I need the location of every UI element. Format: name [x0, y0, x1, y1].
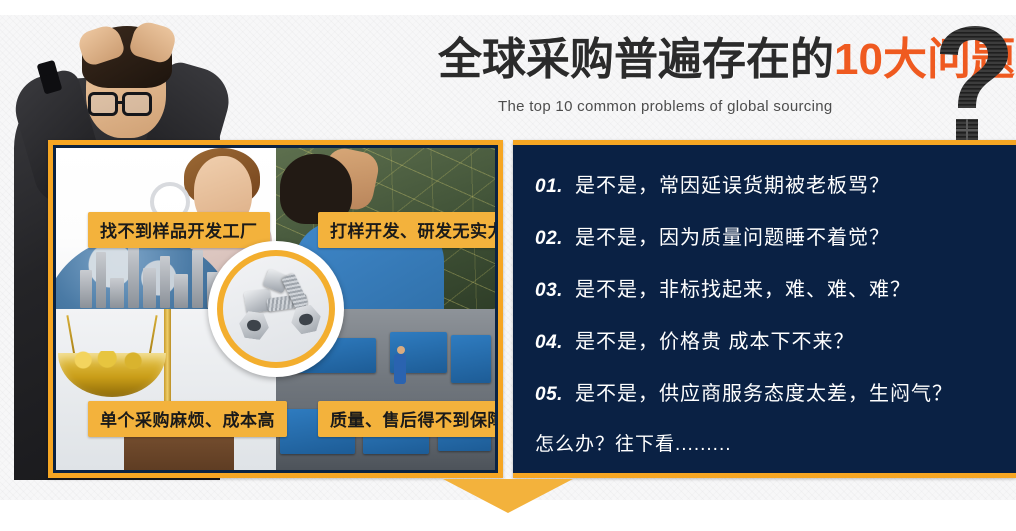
- problem-list-panel: 01. 是不是，常因延误货期被老板骂？ 02. 是不是，因为质量问题睡不着觉？ …: [513, 140, 1016, 478]
- list-item-text: 是不是，因为质量问题睡不着觉？: [575, 221, 890, 250]
- bolts-circle-inset: [208, 241, 344, 377]
- list-item-number: 02.: [535, 228, 575, 250]
- collage-inner-frame: 找不到样品开发工厂 打样开发、研发无实力 单个采购麻烦、成本高 质量、售后得不到…: [53, 145, 498, 473]
- collage-caption-top-left: 找不到样品开发工厂: [88, 212, 270, 248]
- question-mark-icon: [928, 24, 1014, 148]
- title-dark-part: 全球采购普遍存在的: [438, 38, 834, 82]
- page-subtitle: The top 10 common problems of global sou…: [498, 98, 833, 115]
- city-buildings: [76, 238, 226, 309]
- collage-caption-bottom-right: 质量、售后得不到保障: [318, 401, 498, 437]
- businessman-glasses-left: [88, 92, 118, 116]
- list-item: 03. 是不是，非标找起来，难、难、难？: [535, 273, 1006, 302]
- factory-worker-head: [397, 346, 405, 354]
- businessman-glasses-right: [122, 92, 152, 116]
- list-item: 01. 是不是，常因延误货期被老板骂？: [535, 169, 1006, 198]
- list-item-number: 04.: [535, 332, 575, 354]
- list-item: 02. 是不是，因为质量问题睡不着觉？: [535, 221, 1006, 250]
- list-item: 05. 是不是，供应商服务态度太差，生闷气？: [535, 377, 1006, 406]
- page-root: 全球采购普遍存在的10大问题 The top 10 common problem…: [0, 0, 1016, 531]
- list-item-text: 是不是，常因延误货期被老板骂？: [575, 169, 890, 198]
- collage-caption-bottom-left: 单个采购麻烦、成本高: [88, 401, 287, 437]
- problem-list-footer: 怎么办？往下看.........: [535, 429, 1006, 456]
- header: 全球采购普遍存在的10大问题 The top 10 common problem…: [430, 38, 1016, 138]
- list-item: 04. 是不是，价格贵 成本下不来？: [535, 325, 1006, 354]
- list-item-text: 是不是，供应商服务态度太差，生闷气？: [575, 377, 953, 406]
- list-item-number: 01.: [535, 176, 575, 198]
- list-item-number: 03.: [535, 280, 575, 302]
- businessman-glasses-bridge: [118, 101, 124, 104]
- hex-nut: [237, 310, 270, 341]
- problem-list: 01. 是不是，常因延误货期被老板骂？ 02. 是不是，因为质量问题睡不着觉？ …: [535, 169, 1006, 456]
- main-content: 找不到样品开发工厂 打样开发、研发无实力 单个采购麻烦、成本高 质量、售后得不到…: [48, 140, 1016, 478]
- list-item-text: 是不是，价格贵 成本下不来？: [575, 325, 855, 354]
- list-item-text: 是不是，非标找起来，难、难、难？: [575, 273, 911, 302]
- image-collage: 找不到样品开发工厂 打样开发、研发无实力 单个采购麻烦、成本高 质量、售后得不到…: [48, 140, 503, 478]
- scale-pan-with-gold: [58, 353, 166, 397]
- factory-worker: [394, 354, 406, 384]
- bolts-circle-ring: [217, 250, 335, 368]
- collage-caption-top-right: 打样开发、研发无实力: [318, 212, 498, 248]
- list-item-number: 05.: [535, 384, 575, 406]
- factory-machine: [451, 335, 491, 383]
